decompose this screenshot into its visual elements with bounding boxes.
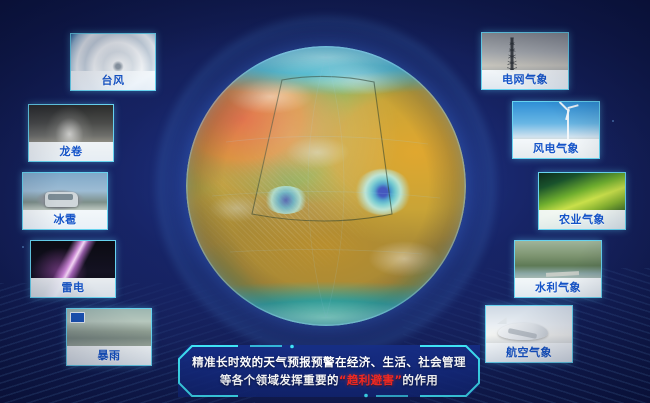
caption-banner: 精准长时效的天气预报预警在经济、生活、社会管理 等各个领域发挥重要的“趋利避害”… (178, 345, 480, 397)
earth-globe[interactable] (178, 38, 474, 334)
card-caption: 农业气象 (539, 210, 625, 229)
hazard-card-hail[interactable]: 冰雹 (22, 172, 108, 230)
card-caption: 水利气象 (515, 278, 601, 297)
banner-line-2: 等各个领域发挥重要的“趋利避害”的作用 (220, 372, 438, 388)
globe-rim (186, 46, 466, 326)
dam-silhouette (546, 272, 579, 278)
card-label: 水利气象 (535, 279, 581, 295)
card-caption: 暴雨 (67, 346, 151, 365)
hazard-card-tornado[interactable]: 龙卷 (28, 104, 114, 162)
transmission-tower-icon (501, 37, 523, 72)
card-label: 风电气象 (533, 140, 579, 156)
card-caption: 龙卷 (29, 142, 113, 161)
airplane-tail (496, 317, 506, 324)
banner-text: 精准长时效的天气预报预警在经济、生活、社会管理 等各个领域发挥重要的“趋利避害”… (178, 345, 480, 397)
card-label: 航空气象 (506, 344, 552, 360)
banner-line-1: 精准长时效的天气预报预警在经济、生活、社会管理 (192, 354, 466, 370)
service-card-wind-power[interactable]: 风电气象 (512, 101, 600, 159)
service-card-agriculture[interactable]: 农业气象 (538, 172, 626, 230)
background-spark (612, 120, 614, 122)
banner-quote-open: “ (339, 373, 347, 387)
card-label: 龙卷 (60, 143, 83, 159)
banner-highlight: 趋利避害 (347, 373, 395, 387)
road-sign-icon (70, 312, 85, 324)
card-caption: 电网气象 (482, 70, 568, 89)
presentation-slide: 台风 龙卷 冰雹 雷电 暴雨 (0, 0, 650, 403)
card-caption: 航空气象 (486, 343, 572, 362)
card-label: 电网气象 (502, 71, 548, 87)
turbine-pole (567, 109, 569, 141)
card-caption: 冰雹 (23, 210, 107, 229)
vehicle-window (48, 194, 73, 200)
hazard-card-rainstorm[interactable]: 暴雨 (66, 308, 152, 366)
hazard-card-lightning[interactable]: 雷电 (30, 240, 116, 298)
banner-line2-after: 的作用 (402, 373, 438, 387)
turbine-blade (568, 104, 579, 109)
banner-line2-before: 等各个领域发挥重要的 (220, 373, 339, 387)
background-spark (22, 246, 24, 248)
card-caption: 台风 (71, 71, 155, 90)
globe-sphere (186, 46, 466, 326)
card-label: 台风 (102, 72, 125, 88)
card-caption: 雷电 (31, 278, 115, 297)
card-label: 冰雹 (54, 211, 77, 227)
service-card-water-conservancy[interactable]: 水利气象 (514, 240, 602, 298)
card-label: 暴雨 (98, 347, 121, 363)
service-card-power-grid[interactable]: 电网气象 (481, 32, 569, 90)
airplane-body (498, 323, 548, 340)
airplane-wing (508, 328, 538, 339)
service-card-aviation[interactable]: 航空气象 (485, 305, 573, 363)
card-label: 农业气象 (559, 211, 605, 227)
card-caption: 风电气象 (513, 139, 599, 158)
turbine-blade (565, 109, 570, 120)
card-label: 雷电 (62, 279, 85, 295)
hazard-card-typhoon[interactable]: 台风 (70, 33, 156, 91)
vehicle-silhouette (45, 192, 79, 207)
turbine-blade (559, 101, 568, 110)
